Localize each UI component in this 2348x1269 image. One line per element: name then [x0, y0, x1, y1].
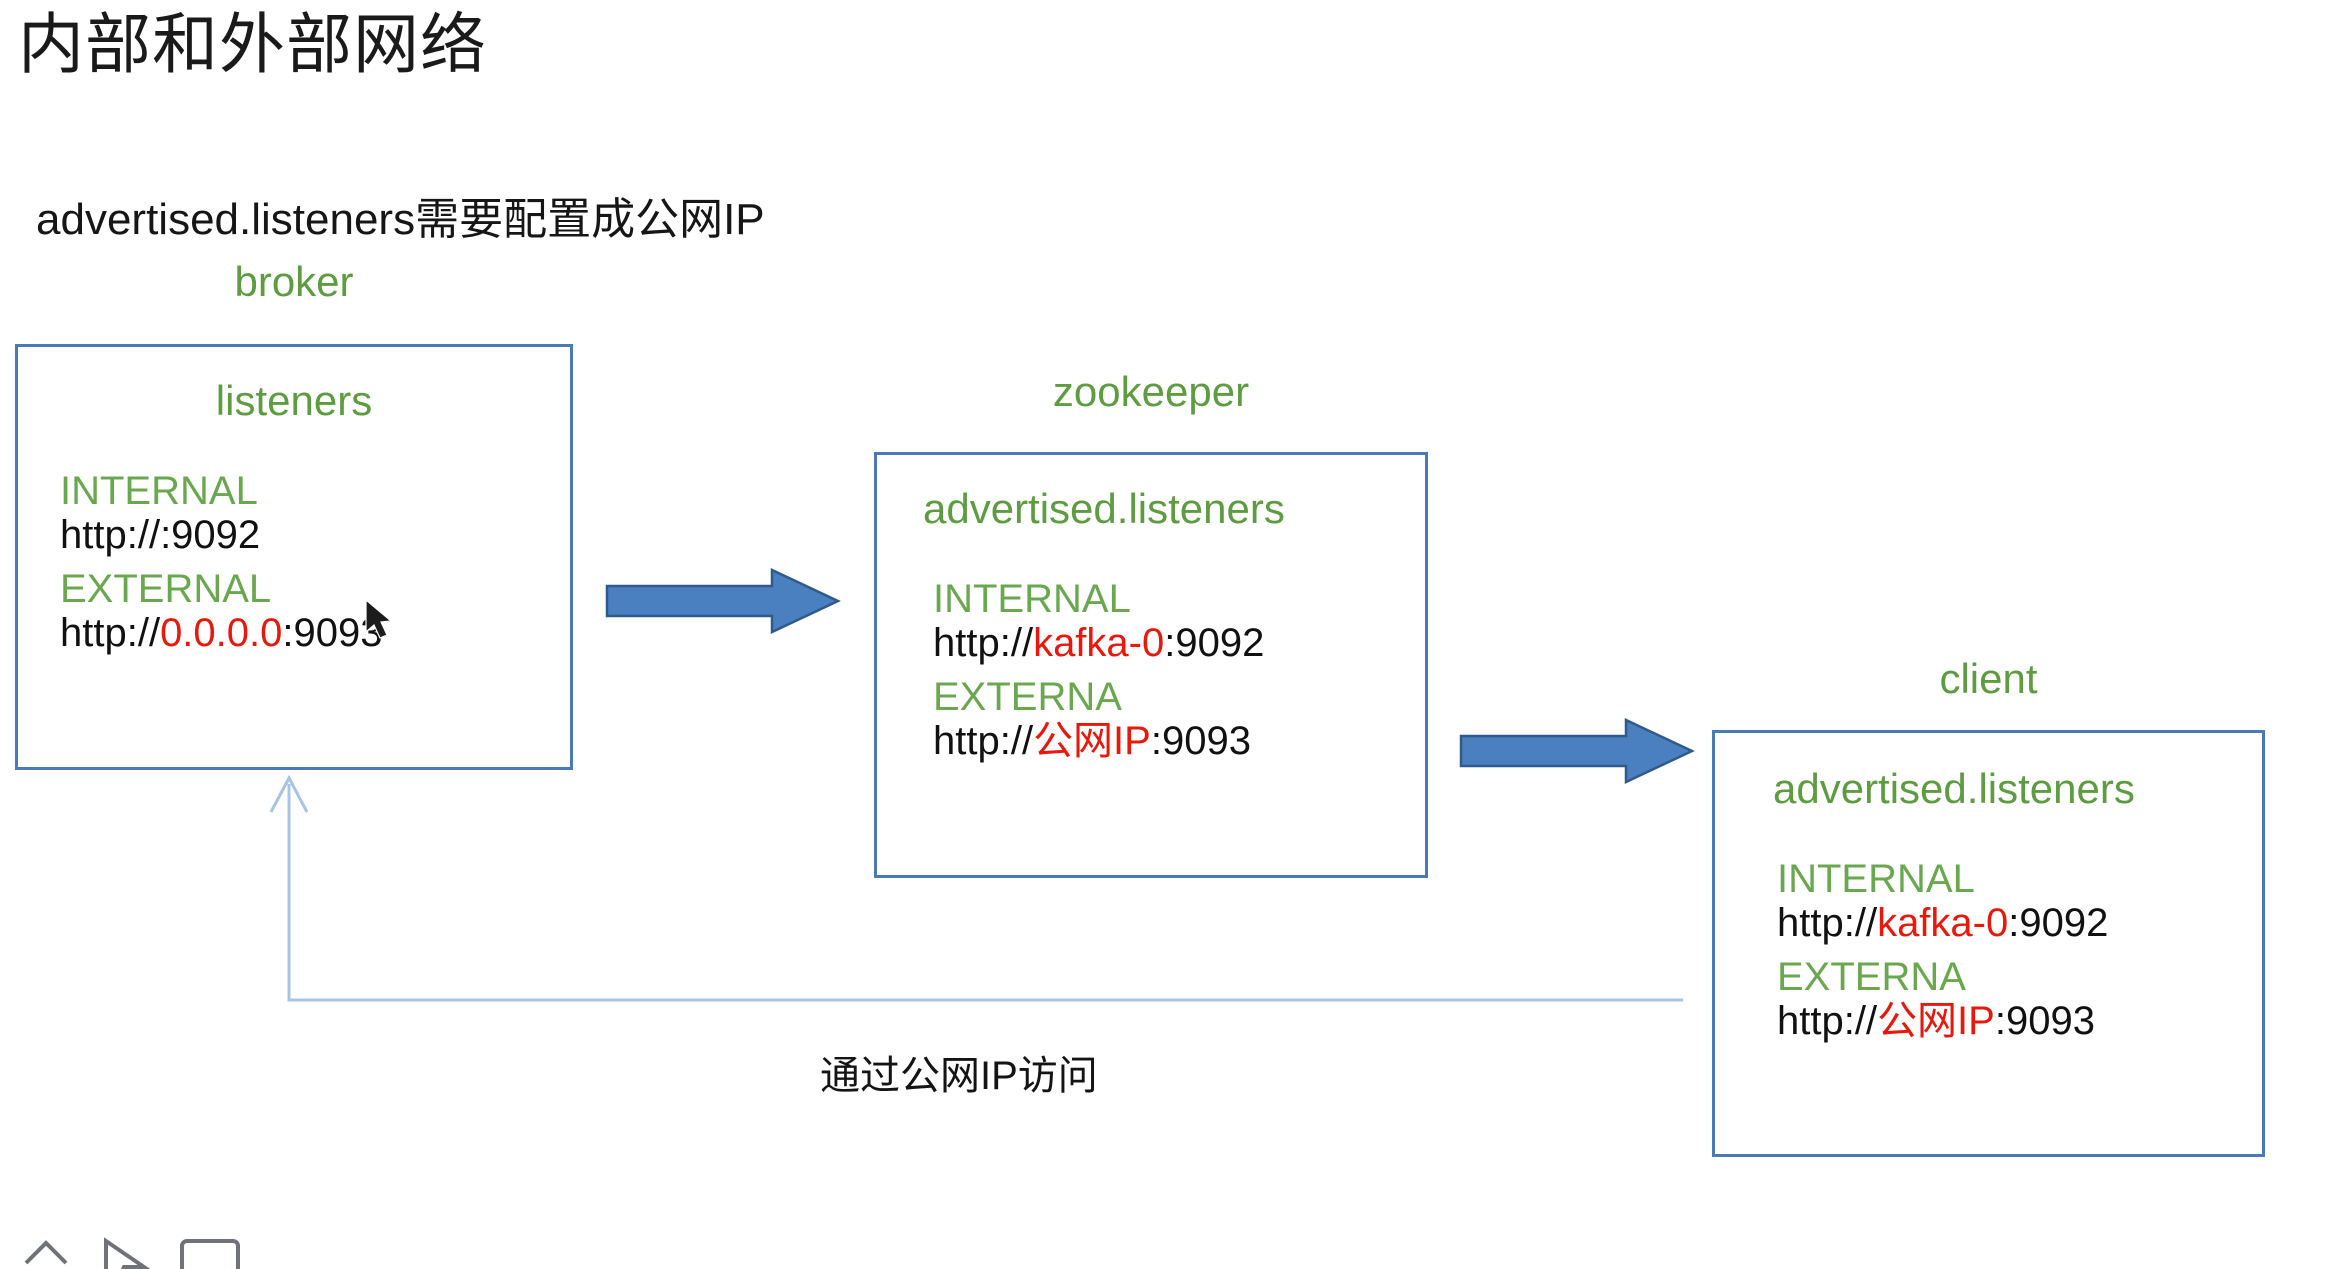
mouse-pointer-icon [362, 598, 396, 644]
rectangle-icon[interactable] [176, 1233, 244, 1269]
bottom-toolbar[interactable] [0, 1233, 2348, 1269]
feedback-caption: 通过公网IP访问 [820, 1043, 1098, 1101]
feedback-connector-client-to-broker [0, 0, 2348, 1269]
chevron-up-icon[interactable] [18, 1233, 74, 1269]
play-cursor-icon[interactable] [96, 1233, 152, 1269]
slide-canvas: 内部和外部网络 advertised.listeners需要配置成公网IP br… [0, 0, 2348, 1269]
